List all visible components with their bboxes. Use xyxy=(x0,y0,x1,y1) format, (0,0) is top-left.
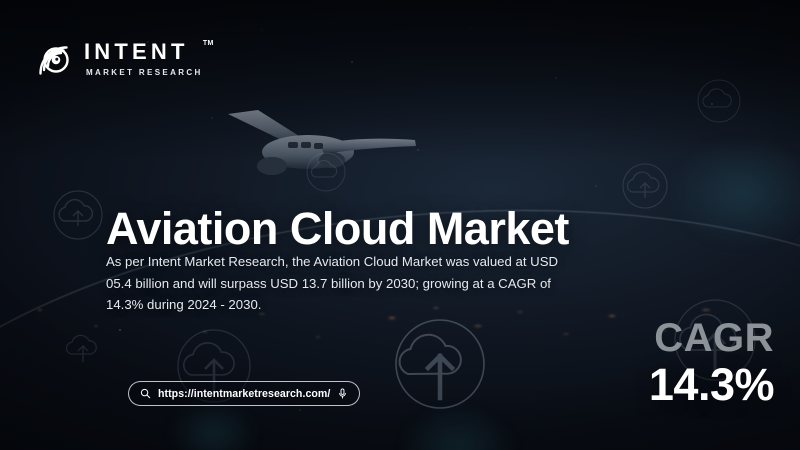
page-title: Aviation Cloud Market xyxy=(106,206,569,251)
brand-tagline: MARKET RESEARCH xyxy=(84,68,203,77)
cagr-callout: CAGR 14.3% xyxy=(649,318,774,407)
brand-name: INTENT xyxy=(84,41,203,63)
website-url-bar[interactable]: https://intentmarketresearch.com/ xyxy=(128,381,360,406)
cagr-label: CAGR xyxy=(649,318,774,358)
trademark-mark: TM xyxy=(203,40,214,47)
cagr-value: 14.3% xyxy=(649,362,774,407)
signal-waves-icon xyxy=(34,36,78,80)
microphone-icon[interactable] xyxy=(337,388,348,399)
website-url-text[interactable]: https://intentmarketresearch.com/ xyxy=(158,388,330,400)
brand-wordmark: INTENT TM MARKET RESEARCH xyxy=(84,39,203,77)
search-icon xyxy=(140,388,151,399)
brand-logo[interactable]: INTENT TM MARKET RESEARCH xyxy=(34,36,203,80)
marketing-banner: INTENT TM MARKET RESEARCH Aviation Cloud… xyxy=(0,0,800,450)
hero-description: As per Intent Market Research, the Aviat… xyxy=(106,251,578,315)
